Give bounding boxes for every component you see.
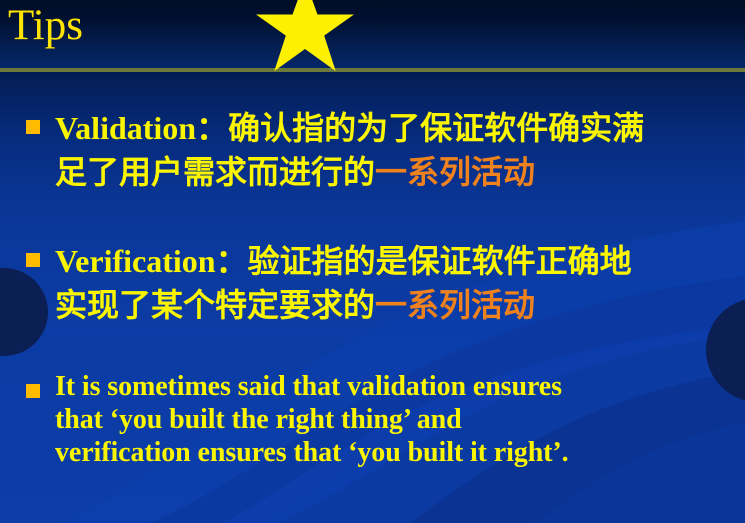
bullet-segment-highlight: 一系列活动: [375, 154, 535, 190]
bullet-item-validation: Validation：确认指的为了保证软件确实满 足了用户需求而进行的一系列活动: [26, 106, 738, 194]
bullet-text-validation: Validation：确认指的为了保证软件确实满 足了用户需求而进行的一系列活动: [55, 106, 738, 194]
bullet-segment: Verification：验证指的是保证软件正确地: [55, 243, 632, 279]
square-bullet-icon: [26, 120, 40, 134]
five-point-star-icon: [255, 0, 355, 74]
square-bullet-icon: [26, 384, 40, 398]
bullet-item-summary: It is sometimes said that validation ens…: [26, 370, 738, 469]
slide-header-background: [0, 0, 745, 71]
bullet-text-verification: Verification：验证指的是保证软件正确地 实现了某个特定要求的一系列活…: [55, 239, 738, 327]
bullet-line: that ‘you built the right thing’ and: [55, 403, 738, 436]
square-bullet-icon: [26, 253, 40, 267]
bullet-line: verification ensures that ‘you built it …: [55, 436, 738, 469]
bullet-item-verification: Verification：验证指的是保证软件正确地 实现了某个特定要求的一系列活…: [26, 239, 738, 327]
bullet-text-summary: It is sometimes said that validation ens…: [55, 370, 738, 469]
bullet-line: Verification：验证指的是保证软件正确地: [55, 239, 738, 283]
slide-title: Tips: [8, 4, 83, 47]
bullet-segment-highlight: 一系列活动: [375, 287, 535, 323]
presentation-slide: Tips Validation：确认指的为了保证软件确实满 足了用户需求而进行的…: [0, 0, 745, 523]
bullet-segment: Validation：确认指的为了保证软件确实满: [55, 110, 644, 146]
bullet-line: It is sometimes said that validation ens…: [55, 370, 738, 403]
bullet-line: Validation：确认指的为了保证软件确实满: [55, 106, 738, 150]
bullet-segment: 足了用户需求而进行的: [55, 154, 375, 190]
bullet-line: 足了用户需求而进行的一系列活动: [55, 150, 738, 194]
bullet-line: 实现了某个特定要求的一系列活动: [55, 283, 738, 327]
slide-body-content: Validation：确认指的为了保证软件确实满 足了用户需求而进行的一系列活动…: [0, 71, 745, 523]
bullet-segment: 实现了某个特定要求的: [55, 287, 375, 323]
